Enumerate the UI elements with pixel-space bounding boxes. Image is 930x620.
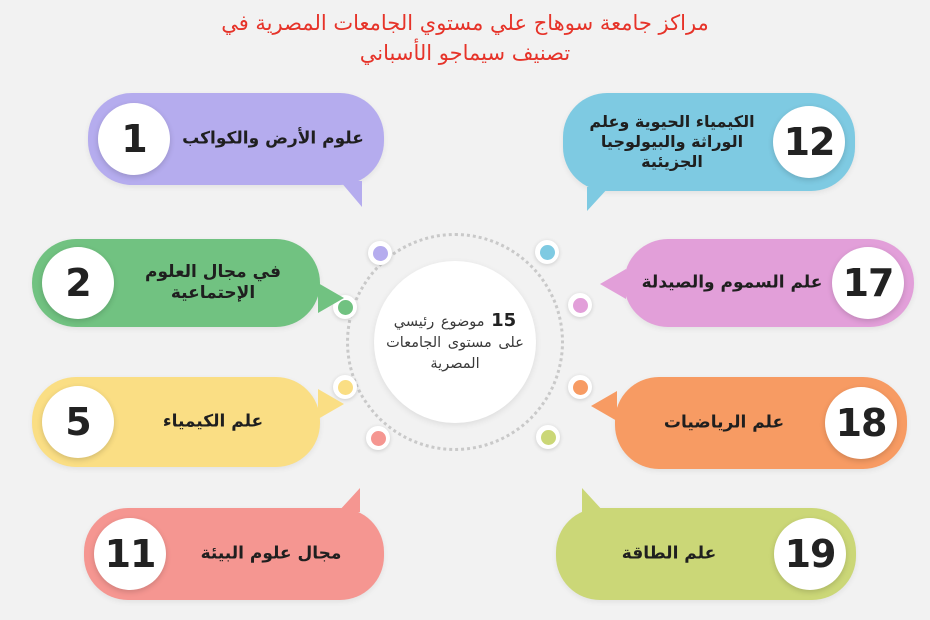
rank-badge: 1: [98, 103, 170, 175]
bubble-environmental-sciences[interactable]: 11 مجال علوم البيئة: [84, 508, 384, 600]
bubble-tail: [318, 283, 344, 313]
bubble-earth-planetary-sciences[interactable]: 1 علوم الأرض والكواكب: [88, 93, 384, 185]
rank-badge: 2: [42, 247, 114, 319]
rank-badge: 19: [774, 518, 846, 590]
bubble-tail: [587, 187, 609, 211]
bubble-label: علم الطاقة: [570, 544, 768, 565]
bubble-tail: [340, 181, 362, 207]
bubble-tail: [600, 269, 626, 299]
title-line-1: مراكز جامعة سوهاج علي مستوي الجامعات الم…: [0, 8, 930, 38]
bubble-tail: [318, 389, 344, 419]
bubble-mathematics[interactable]: 18 علم الرياضيات: [615, 377, 907, 469]
bubble-label: مجال علوم البيئة: [172, 544, 370, 565]
bubble-biochemistry-genetics-molecular-biology[interactable]: 12 الكيمياء الحيوية وعلم الوراثة والبيول…: [563, 93, 855, 191]
dot-purple: [368, 241, 392, 265]
rank-badge: 17: [832, 247, 904, 319]
center-count: 15: [491, 310, 516, 331]
rank-badge: 12: [773, 106, 845, 178]
bubble-tail: [582, 488, 604, 512]
dot-cyan: [535, 240, 559, 264]
dot-orange: [568, 375, 592, 399]
bubble-tail: [591, 391, 617, 421]
page-title: مراكز جامعة سوهاج علي مستوي الجامعات الم…: [0, 8, 930, 68]
bubble-social-sciences[interactable]: 2 في مجال العلوم الإحتماعية: [32, 239, 320, 327]
dot-lime: [536, 425, 560, 449]
infographic-canvas: مراكز جامعة سوهاج علي مستوي الجامعات الم…: [0, 0, 930, 620]
center-text: 15 موضوع رئيسي على مستوى الجامعات المصري…: [378, 310, 532, 375]
rank-badge: 11: [94, 518, 166, 590]
rank-badge: 18: [825, 387, 897, 459]
bubble-label: علم الكيمياء: [120, 412, 306, 433]
rank-badge: 5: [42, 386, 114, 458]
dot-orchid: [568, 293, 592, 317]
bubble-tail: [338, 488, 360, 512]
bubble-chemistry[interactable]: 5 علم الكيمياء: [32, 377, 320, 467]
bubble-label: في مجال العلوم الإحتماعية: [120, 262, 306, 304]
dot-salmon: [366, 426, 390, 450]
center-circle: 15 موضوع رئيسي على مستوى الجامعات المصري…: [374, 261, 536, 423]
bubble-label: علم الرياضيات: [629, 413, 819, 434]
bubble-label: علم السموم والصيدلة: [638, 273, 826, 294]
bubble-energy[interactable]: 19 علم الطاقة: [556, 508, 856, 600]
bubble-label: الكيمياء الحيوية وعلم الوراثة والبيولوجي…: [577, 112, 767, 172]
bubble-label: علوم الأرض والكواكب: [176, 129, 370, 150]
title-line-2: تصنيف سيماجو الأسباني: [0, 38, 930, 68]
bubble-toxicology-pharmacology[interactable]: 17 علم السموم والصيدلة: [624, 239, 914, 327]
